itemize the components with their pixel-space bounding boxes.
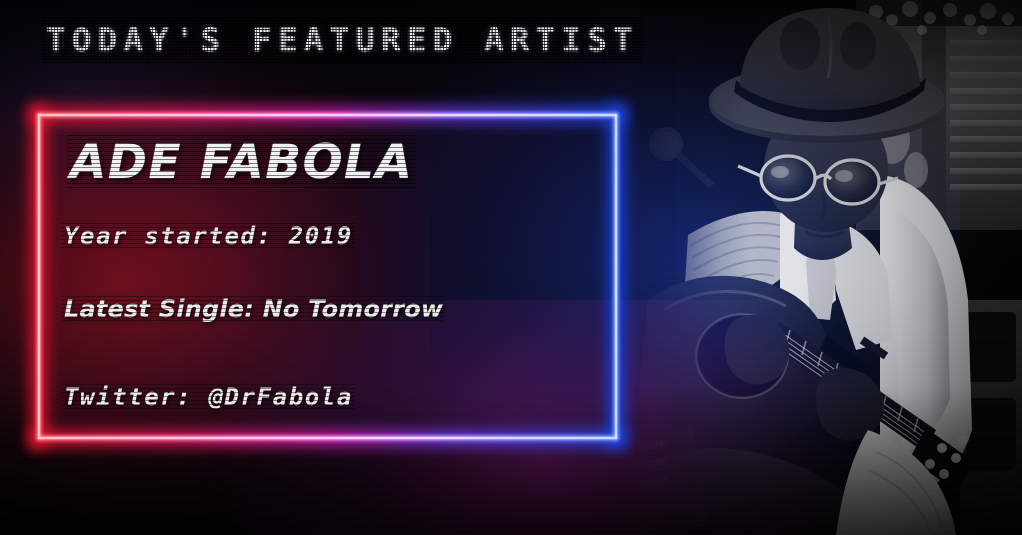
artist-twitter-handle: Twitter: @DrFabola [64,383,353,411]
guitarist-photo: ΛΟΝΟΗΟ ΝΟΗΟΝΟ ΟΗΟΝΟΗ [630,0,1022,535]
artist-latest-single: Latest Single: No Tomorrow [64,295,443,323]
photo-layer: ΛΟΝΟΗΟ ΝΟΗΟΝΟ ΟΗΟΝΟΗ [0,0,1022,535]
page-title: TODAY'S FEATURED ARTIST [46,21,639,59]
artist-year-started: Year started: 2019 [64,222,353,250]
artist-name: ADE FABOLA [70,135,413,190]
featured-artist-banner: ΛΟΝΟΗΟ ΝΟΗΟΝΟ ΟΗΟΝΟΗ TODAY'S FEATURED AR… [0,0,1022,535]
